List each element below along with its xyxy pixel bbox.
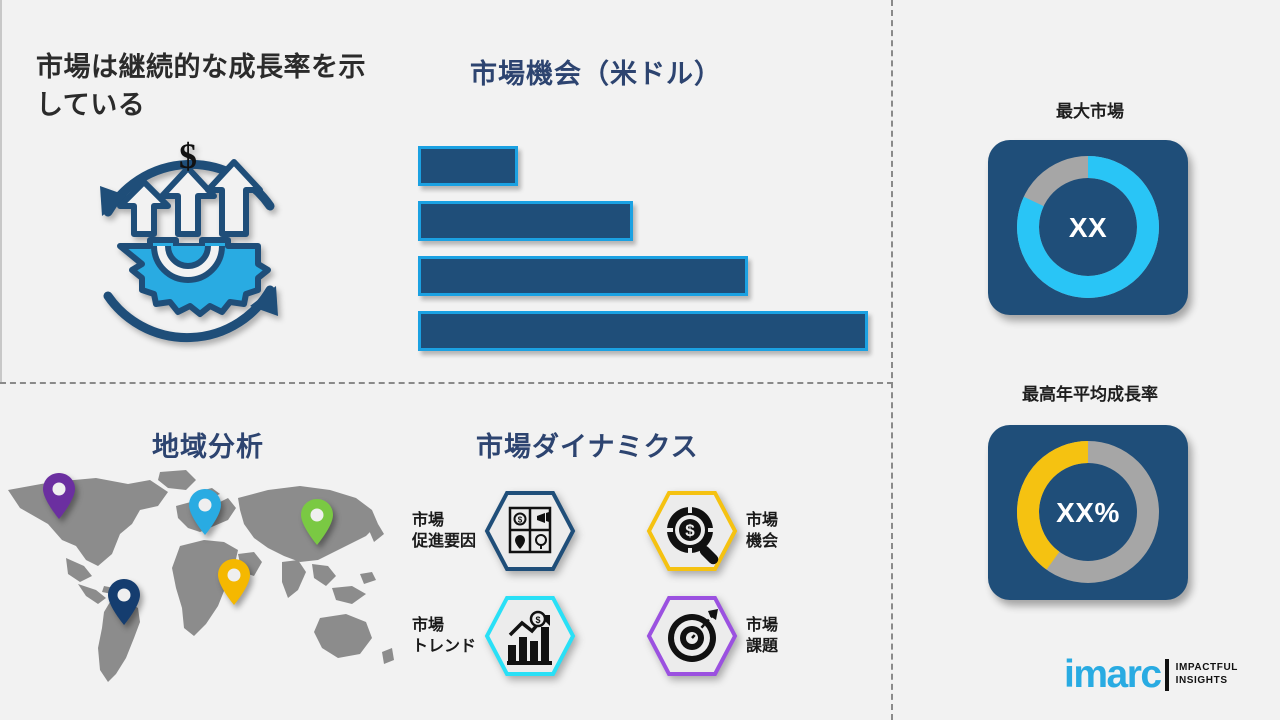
- left-border: [0, 0, 2, 382]
- dynamics-label-trends: 市場 トレンド: [412, 615, 476, 657]
- logo-divider: [1165, 659, 1169, 691]
- svg-text:$: $: [518, 516, 523, 525]
- vertical-dashed-divider: [891, 0, 893, 720]
- logo-wordmark: imarc: [1064, 655, 1161, 694]
- dynamics-item-opportunity[interactable]: $ 市場 機会: [646, 490, 778, 572]
- logo-tagline: IMPACTFUL INSIGHTS: [1176, 662, 1238, 687]
- dynamics-label-challenges: 市場 課題: [746, 615, 778, 657]
- kpi-card-largest-market: XX: [988, 140, 1188, 315]
- dollar-magnifier-icon: $: [646, 490, 738, 572]
- map-pin-europe[interactable]: [188, 488, 222, 536]
- dynamics-section-title: 市場ダイナミクス: [476, 425, 699, 464]
- page-title: 市場は継続的な成長率を示している: [36, 48, 376, 125]
- kpi-title-highest-cagr: 最高年平均成長率: [960, 380, 1220, 405]
- svg-text:$: $: [536, 615, 541, 625]
- market-opportunity-bar-chart: [418, 146, 878, 346]
- bar-row: [418, 256, 748, 296]
- dynamics-label-drivers: 市場 促進要因: [412, 510, 476, 552]
- horizontal-dashed-divider: [0, 382, 893, 384]
- bar-chart-growth-icon: $: [484, 595, 576, 677]
- bar-row: [418, 311, 868, 351]
- dynamics-item-drivers[interactable]: 市場 促進要因 $: [412, 490, 576, 572]
- map-pin-north-america[interactable]: [42, 472, 76, 520]
- map-pin-east-asia[interactable]: [300, 498, 334, 546]
- dynamics-item-trends[interactable]: 市場 トレンド $: [412, 595, 576, 677]
- map-pin-south-america[interactable]: [107, 578, 141, 626]
- imarc-logo: imarc IMPACTFUL INSIGHTS: [1064, 655, 1238, 694]
- slide-canvas: 市場は継続的な成長率を示している $: [0, 0, 1280, 720]
- kpi-value-largest-market: XX: [988, 140, 1188, 315]
- puzzle-pieces-icon: $: [484, 490, 576, 572]
- dynamics-label-opportunity: 市場 機会: [746, 510, 778, 552]
- svg-text:$: $: [685, 521, 695, 540]
- dynamics-item-challenges[interactable]: 市場 課題: [646, 595, 778, 677]
- bar-row: [418, 146, 518, 186]
- kpi-title-largest-market: 最大市場: [960, 97, 1220, 122]
- opportunity-section-title: 市場機会（米ドル）: [470, 52, 722, 91]
- kpi-value-highest-cagr: XX%: [988, 425, 1188, 600]
- regional-section-title: 地域分析: [152, 425, 264, 464]
- target-dart-icon: [646, 595, 738, 677]
- kpi-card-highest-cagr: XX%: [988, 425, 1188, 600]
- dollar-symbol: $: [179, 136, 197, 176]
- map-pin-middle-east[interactable]: [217, 558, 251, 606]
- bar-row: [418, 201, 633, 241]
- growth-cycle-gear-icon: $: [72, 134, 306, 368]
